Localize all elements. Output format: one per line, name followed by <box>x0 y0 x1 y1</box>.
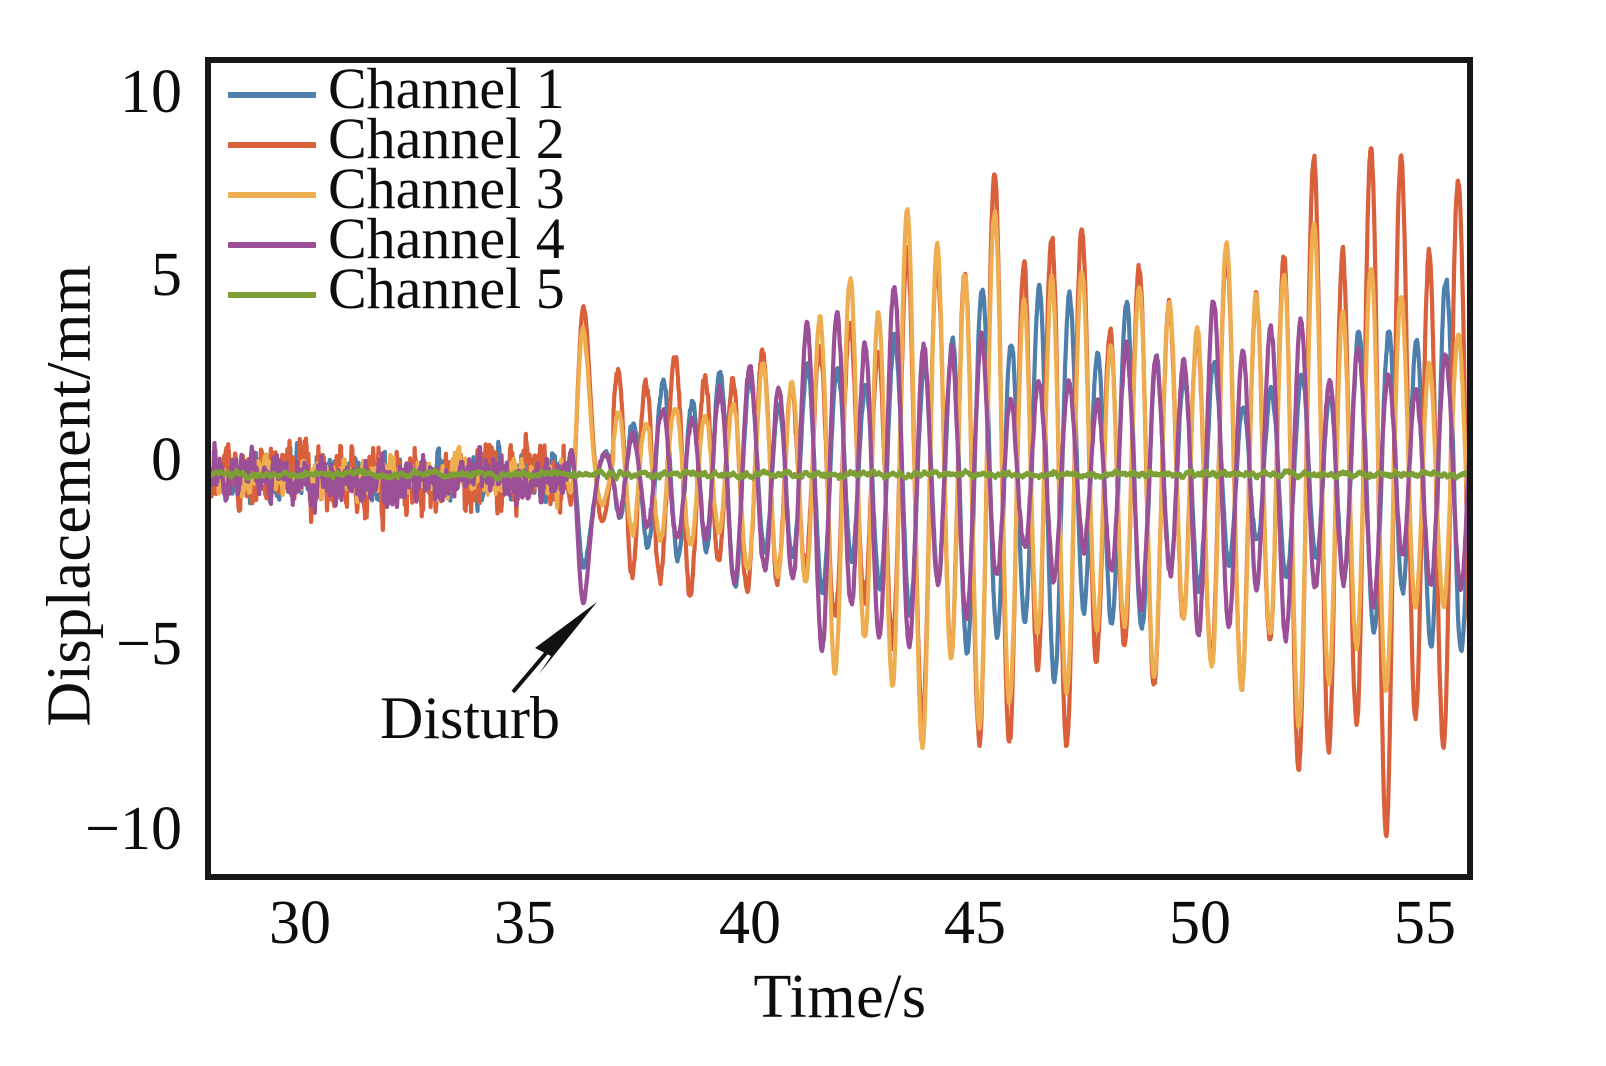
x-axis-title: Time/s <box>205 962 1475 1033</box>
legend-label-channel-5: Channel 5 <box>328 260 565 318</box>
legend-item-channel-5[interactable]: Channel 5 <box>228 270 565 320</box>
x-tick-label-30: 30 <box>200 888 400 959</box>
legend: Channel 1 Channel 2 Channel 3 Channel 4 … <box>228 70 565 320</box>
y-tick-label-neg10: −10 <box>0 794 182 865</box>
y-tick-label-5: 5 <box>0 240 182 311</box>
y-tick-label-10: 10 <box>0 57 182 128</box>
legend-swatch-channel-3 <box>228 192 316 198</box>
x-tick-label-35: 35 <box>425 888 625 959</box>
x-tick-label-45: 45 <box>875 888 1075 959</box>
legend-swatch-channel-1 <box>228 92 316 98</box>
x-tick-label-40: 40 <box>650 888 850 959</box>
disturb-label: Disturb <box>380 684 560 753</box>
legend-swatch-channel-5 <box>228 292 316 298</box>
legend-swatch-channel-2 <box>228 142 316 148</box>
x-tick-label-55: 55 <box>1325 888 1525 959</box>
y-tick-label-neg5: −5 <box>0 609 182 680</box>
x-tick-label-50: 50 <box>1100 888 1300 959</box>
chart-page: Displacement/mm 10 5 0 −5 −10 30 35 40 4… <box>0 0 1606 1066</box>
legend-swatch-channel-4 <box>228 242 316 248</box>
y-tick-label-0: 0 <box>0 425 182 496</box>
